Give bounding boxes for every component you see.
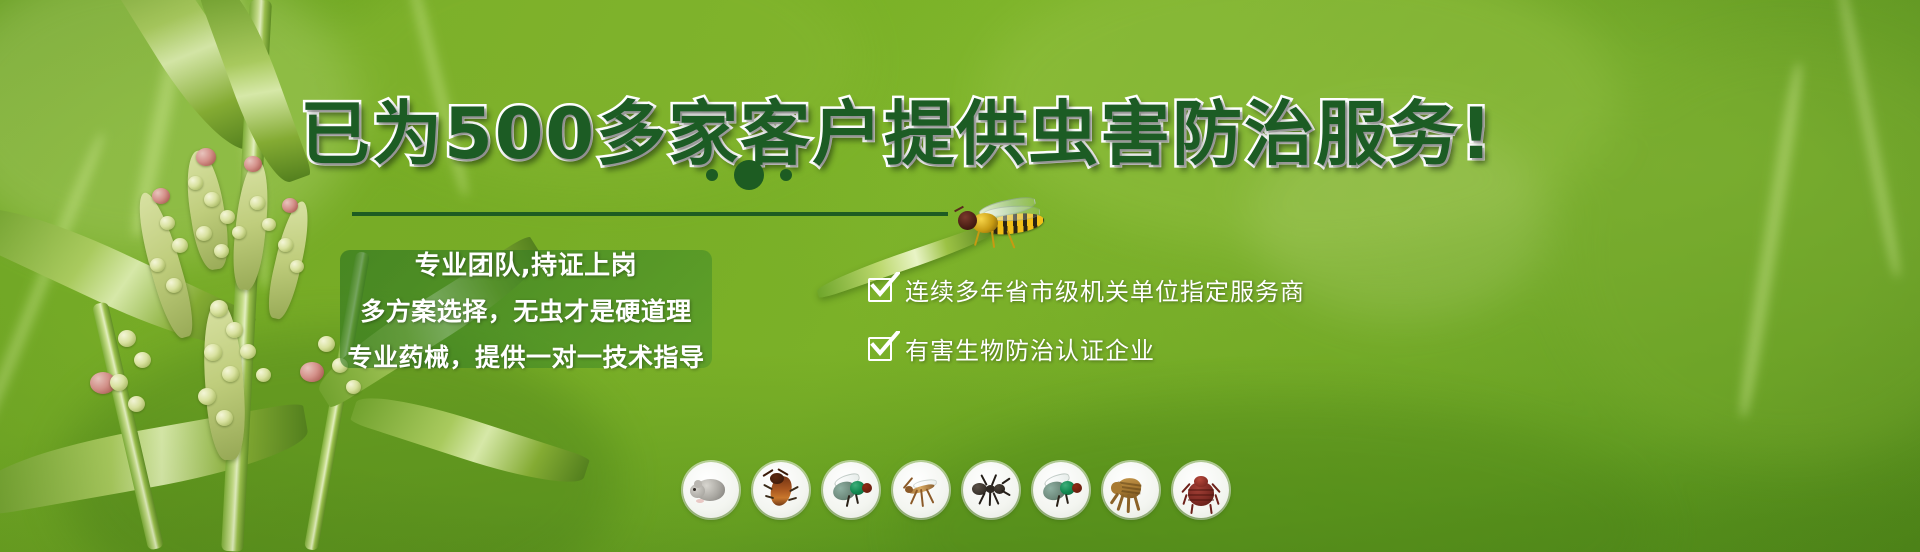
list-item: 有害生物防治认证企业 bbox=[868, 331, 1305, 366]
panel-line-2: 多方案选择，无虫才是硬道理 bbox=[360, 292, 692, 328]
list-item-label: 连续多年省市级机关单位指定服务商 bbox=[905, 272, 1305, 307]
fly-icon-2[interactable] bbox=[1033, 462, 1089, 518]
list-item-label: 有害生物防治认证企业 bbox=[905, 331, 1155, 366]
pest-type-icon-row bbox=[683, 462, 1229, 518]
credentials-list: 连续多年省市级机关单位指定服务商 有害生物防治认证企业 bbox=[868, 272, 1305, 366]
list-item: 连续多年省市级机关单位指定服务商 bbox=[868, 272, 1305, 307]
large-dot-center bbox=[734, 160, 764, 190]
hoverfly-icon bbox=[952, 202, 1058, 248]
check-icon bbox=[868, 337, 892, 361]
feature-panel: 专业团队,持证上岗 多方案选择，无虫才是硬道理 专业药械，提供一对一技术指导 bbox=[340, 250, 712, 368]
cockroach-icon[interactable] bbox=[753, 462, 809, 518]
pest-control-hero-banner: 已为500多家客户提供虫害防治服务! 已为500多家客户提供虫害防治服务! 专业… bbox=[0, 0, 1920, 552]
panel-line-3: 专业药械，提供一对一技术指导 bbox=[347, 338, 704, 374]
small-dot-left bbox=[706, 169, 718, 181]
page-title: 已为500多家客户提供虫害防治服务! bbox=[300, 78, 1494, 179]
check-icon bbox=[868, 278, 892, 302]
decor-dots bbox=[706, 160, 792, 190]
panel-line-1: 专业团队,持证上岗 bbox=[415, 245, 637, 282]
fly-icon[interactable] bbox=[823, 462, 879, 518]
bedbug-icon[interactable] bbox=[1173, 462, 1229, 518]
flea-icon[interactable] bbox=[1103, 462, 1159, 518]
mosquito-icon[interactable] bbox=[893, 462, 949, 518]
small-dot-right bbox=[780, 169, 792, 181]
ant-icon[interactable] bbox=[963, 462, 1019, 518]
mouse-icon[interactable] bbox=[683, 462, 739, 518]
